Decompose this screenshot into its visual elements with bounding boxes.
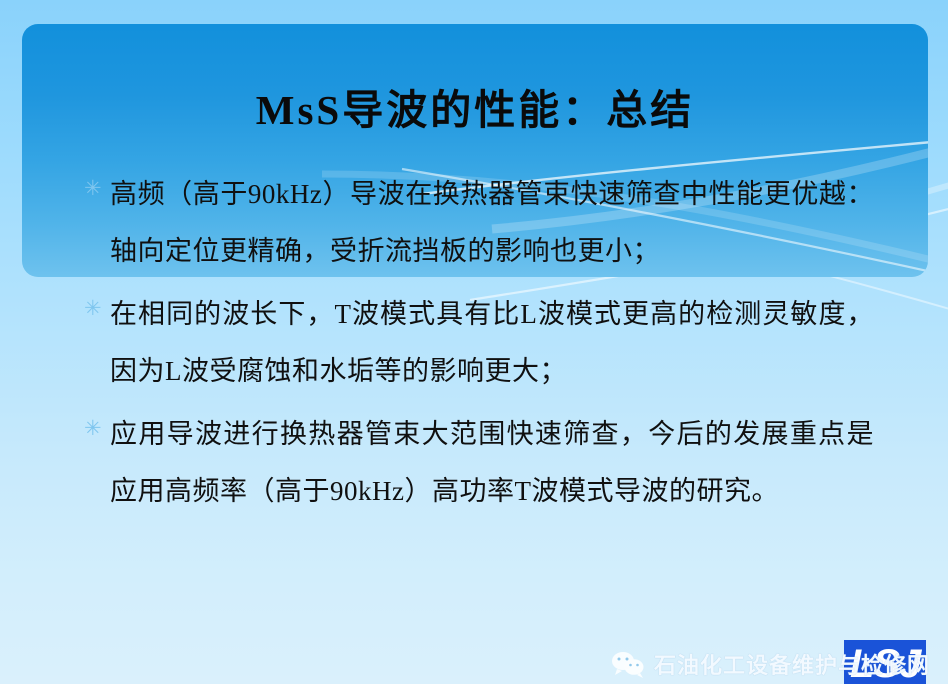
bullet-text: 在相同的波长下，T波模式具有比L波模式更高的检测灵敏度，因为L波受腐蚀和水垢等的…	[110, 286, 874, 400]
bullet-text: 应用导波进行换热器管束大范围快速筛查，今后的发展重点是应用高频率（高于90kHz…	[110, 406, 874, 520]
footer-watermark: 石油化工设备维护与检修网	[611, 648, 930, 680]
bullet-text: 高频（高于90kHz）导波在换热器管束快速筛查中性能更优越：轴向定位更精确，受折…	[110, 166, 874, 280]
presentation-slide: MsS导波的性能：总结 ✳ 高频（高于90kHz）导波在换热器管束快速筛查中性能…	[0, 0, 948, 684]
list-item: ✳ 高频（高于90kHz）导波在换热器管束快速筛查中性能更优越：轴向定位更精确，…	[84, 166, 874, 280]
wechat-icon	[611, 650, 645, 678]
bullet-list: ✳ 高频（高于90kHz）导波在换热器管束快速筛查中性能更优越：轴向定位更精确，…	[84, 166, 874, 526]
asterisk-bullet-icon: ✳	[84, 286, 110, 332]
list-item: ✳ 在相同的波长下，T波模式具有比L波模式更高的检测灵敏度，因为L波受腐蚀和水垢…	[84, 286, 874, 400]
asterisk-bullet-icon: ✳	[84, 406, 110, 452]
page-title: MsS导波的性能：总结	[22, 76, 928, 136]
watermark-label: 石油化工设备维护与检修网	[654, 648, 930, 680]
asterisk-bullet-icon: ✳	[84, 166, 110, 212]
list-item: ✳ 应用导波进行换热器管束大范围快速筛查，今后的发展重点是应用高频率（高于90k…	[84, 406, 874, 520]
